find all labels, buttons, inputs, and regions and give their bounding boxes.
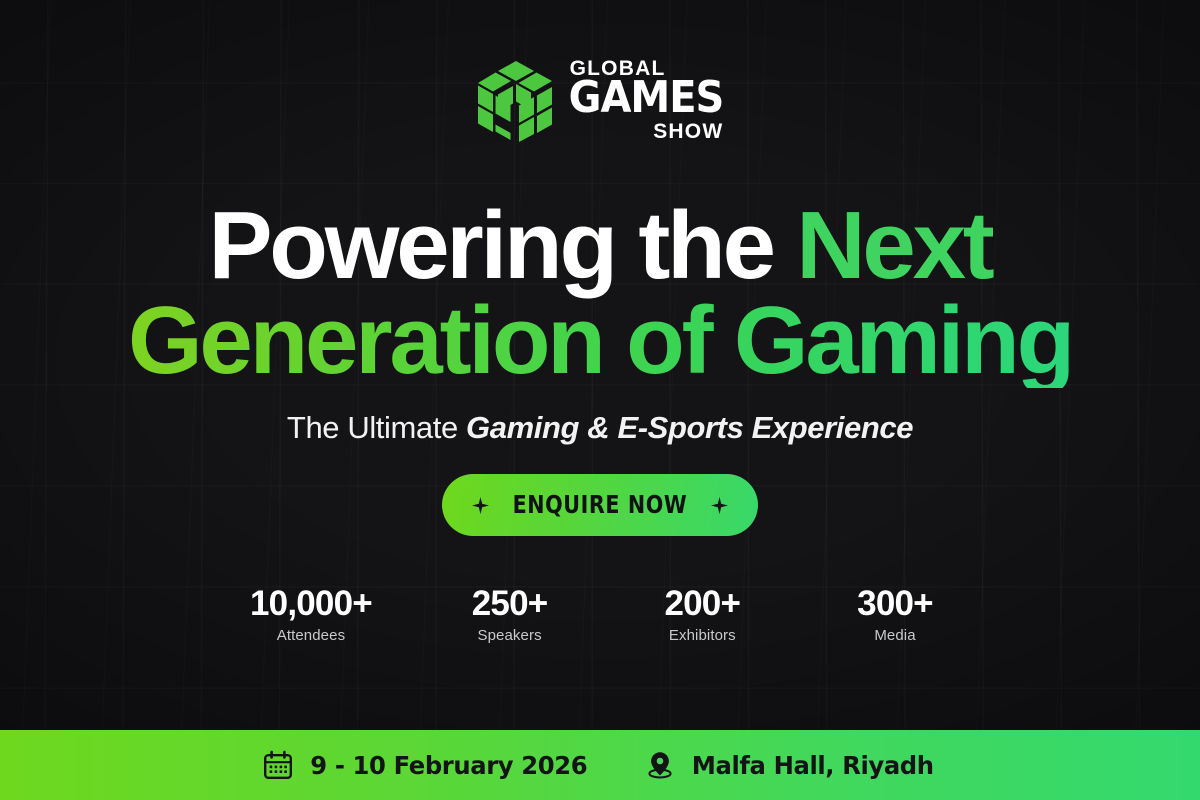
isometric-cube-icon	[477, 58, 555, 142]
stat-value: 300+	[840, 584, 950, 623]
subtitle-regular: The Ultimate	[287, 410, 466, 445]
sparkle-icon	[711, 497, 728, 514]
stat-value: 10,000+	[250, 584, 372, 623]
event-location-text: Malfa Hall, Riyadh	[692, 751, 934, 780]
event-date: 9 - 10 February 2026	[263, 750, 592, 780]
stat-item: 300+ Media	[840, 584, 950, 644]
headline-line-2: Generation of Gaming	[128, 293, 1072, 388]
subtitle-emphasis: Gaming & E-Sports Experience	[466, 410, 913, 445]
map-pin-icon	[645, 750, 675, 780]
stats-row: 10,000+ Attendees 250+ Speakers 200+ Exh…	[100, 584, 1100, 644]
event-date-text: 9 - 10 February 2026	[310, 751, 587, 780]
stat-label: Media	[840, 627, 950, 644]
wordmark-show: SHOW	[569, 121, 724, 142]
stat-label: Exhibitors	[647, 627, 757, 644]
stat-value: 200+	[647, 584, 757, 623]
event-location: Malfa Hall, Riyadh	[645, 750, 937, 780]
stat-item: 250+ Speakers	[455, 584, 565, 644]
calendar-icon	[263, 750, 293, 780]
headline-line-1-white: Powering the	[208, 192, 796, 299]
wordmark-games: GAMES	[569, 76, 724, 119]
hero-content: GLOBAL GAMES SHOW Powering the Next Gene…	[0, 0, 1200, 730]
page-title: Powering the Next Generation of Gaming	[128, 198, 1072, 388]
headline-accent-word: Next	[796, 192, 991, 299]
stat-item: 200+ Exhibitors	[647, 584, 757, 644]
stat-label: Attendees	[250, 627, 372, 644]
brand-wordmark: GLOBAL GAMES SHOW	[569, 58, 724, 142]
enquire-now-button[interactable]: ENQUIRE NOW	[442, 474, 758, 536]
stat-label: Speakers	[455, 627, 565, 644]
enquire-now-label: ENQUIRE NOW	[513, 491, 688, 519]
stat-value: 250+	[455, 584, 565, 623]
headline-line-1: Powering the Next	[128, 198, 1072, 293]
hero-subtitle: The Ultimate Gaming & E-Sports Experienc…	[287, 410, 913, 446]
event-info-bar: 9 - 10 February 2026 Malfa Hall, Riyadh	[0, 730, 1200, 800]
brand-logo[interactable]: GLOBAL GAMES SHOW	[477, 58, 724, 142]
sparkle-icon	[472, 497, 489, 514]
stat-item: 10,000+ Attendees	[250, 584, 372, 644]
hero-banner: GLOBAL GAMES SHOW Powering the Next Gene…	[0, 0, 1200, 800]
